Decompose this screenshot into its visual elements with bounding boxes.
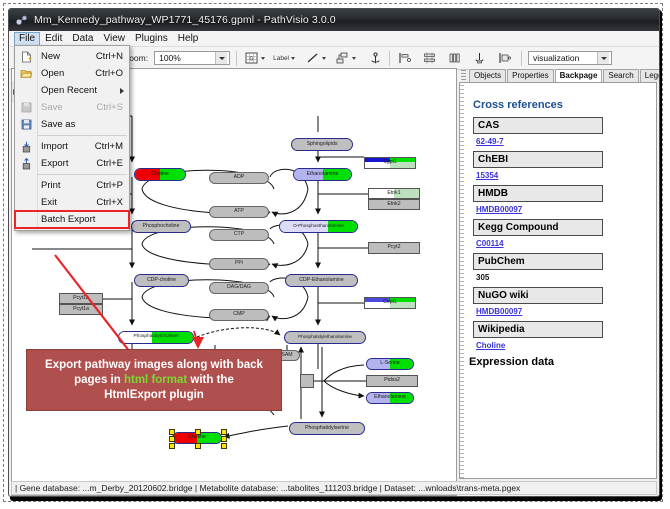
annotation-line2-a: pages in bbox=[74, 374, 124, 386]
selection-handle[interactable] bbox=[221, 436, 227, 442]
xref-value-wikipedia[interactable]: Choline bbox=[476, 341, 652, 350]
chevron-right-icon bbox=[120, 88, 124, 94]
new-document-icon bbox=[15, 48, 37, 65]
menu-item-new-label: New bbox=[37, 51, 96, 62]
selection-handle[interactable] bbox=[169, 436, 175, 442]
menu-item-export-label: Export bbox=[37, 158, 96, 169]
panel-drag-grip[interactable] bbox=[461, 70, 466, 80]
menu-item-open[interactable]: Open Ctrl+O bbox=[15, 65, 129, 82]
zoom-combo[interactable]: 100% bbox=[154, 51, 230, 65]
selection-handle[interactable] bbox=[195, 443, 201, 449]
pathway-node-adp[interactable]: ADP bbox=[209, 172, 269, 184]
menu-item-save-as-label: Save as bbox=[37, 119, 129, 130]
pathway-node-choline-selected-wrapper: Choline bbox=[172, 432, 222, 444]
xref-header-cas: CAS bbox=[473, 117, 603, 134]
pathway-node-dag[interactable]: DAG/DAG bbox=[209, 282, 269, 294]
shape-tool-button[interactable] bbox=[334, 50, 356, 66]
status-bar-text: | Gene database: ...m_Derby_20120602.bri… bbox=[15, 483, 520, 493]
xref-value-hmdb[interactable]: HMDB00097 bbox=[476, 205, 652, 214]
chevron-down-icon[interactable] bbox=[597, 52, 609, 64]
menu-item-open-recent[interactable]: Open Recent bbox=[15, 82, 129, 99]
menu-item-save[interactable]: Save Ctrl+S bbox=[15, 99, 129, 116]
pathway-gene-sgpl1[interactable]: Sgpl1 bbox=[364, 157, 416, 169]
menu-item-print-accel: Ctrl+P bbox=[96, 180, 129, 191]
xref-value-chebi[interactable]: 15354 bbox=[476, 171, 652, 180]
xref-header-pubchem: PubChem bbox=[473, 253, 603, 270]
pathway-gene-ptdss2[interactable]: Ptdss2 bbox=[366, 375, 418, 387]
xref-value-nugo-wiki[interactable]: HMDB00097 bbox=[476, 307, 652, 316]
menu-item-save-label: Save bbox=[37, 102, 96, 113]
pathway-gene-cept1[interactable]: Cept1 bbox=[364, 297, 416, 309]
xref-header-kegg-compound: Kegg Compound bbox=[473, 219, 603, 236]
tab-search[interactable]: Search bbox=[603, 69, 638, 82]
annotation-line2-b: with the bbox=[187, 374, 234, 386]
visualization-value: visualization bbox=[533, 53, 597, 63]
save-as-icon bbox=[15, 116, 37, 133]
backpage-content: Cross references CAS 62-49-7 ChEBI 15354… bbox=[464, 85, 652, 478]
xref-value-pubchem: 305 bbox=[476, 273, 652, 282]
group-button[interactable] bbox=[471, 50, 487, 66]
chevron-down-icon[interactable] bbox=[215, 52, 227, 64]
menu-item-batch-export-label: Batch Export bbox=[37, 214, 129, 225]
status-bar: | Gene database: ...m_Derby_20120602.bri… bbox=[11, 481, 657, 495]
menu-item-export-accel: Ctrl+E bbox=[96, 158, 129, 169]
pathway-node-sphingolipids[interactable]: Sphingolipids bbox=[291, 138, 353, 151]
menu-item-new[interactable]: New Ctrl+N bbox=[15, 48, 129, 65]
selection-handle[interactable] bbox=[221, 443, 227, 449]
menu-item-open-accel: Ctrl+O bbox=[95, 68, 129, 79]
tab-legend[interactable]: Legend bbox=[640, 69, 660, 82]
menu-item-export[interactable]: Export Ctrl+E bbox=[15, 155, 129, 172]
menu-help[interactable]: Help bbox=[173, 32, 204, 46]
selection-handle[interactable] bbox=[169, 443, 175, 449]
menu-item-exit-label: Exit bbox=[37, 197, 96, 208]
screenshot-frame: Mm_Kennedy_pathway_WP1771_45176.gpml - P… bbox=[0, 0, 670, 509]
menu-item-save-as[interactable]: Save as bbox=[15, 116, 129, 133]
distribute-button[interactable] bbox=[446, 50, 462, 66]
menu-plugins[interactable]: Plugins bbox=[130, 32, 173, 46]
window-title: Mm_Kennedy_pathway_WP1771_45176.gpml - P… bbox=[34, 14, 336, 26]
annotation-text: Export pathway images along with back pa… bbox=[45, 358, 263, 403]
label-tool-text: Label bbox=[273, 55, 289, 62]
menu-item-exit-accel: Ctrl+X bbox=[96, 197, 129, 208]
pathway-node-ethanolamine[interactable]: Ethanolamine bbox=[293, 168, 352, 181]
selection-handle[interactable] bbox=[221, 429, 227, 435]
grid-icon: G bbox=[243, 50, 259, 66]
annotation-highlight: html format bbox=[124, 374, 187, 386]
toolbar-separator bbox=[236, 51, 237, 66]
pathvisio-window: Mm_Kennedy_pathway_WP1771_45176.gpml - P… bbox=[8, 8, 660, 497]
pathway-node-l-serine[interactable]: L-Serine bbox=[366, 358, 414, 370]
pathway-gene-pcyt2[interactable]: Pcyt2 bbox=[368, 242, 420, 254]
order-button[interactable] bbox=[496, 50, 512, 66]
annotation-line1: Export pathway images along with back bbox=[45, 359, 263, 371]
xref-header-nugo-wiki: NuGO wiki bbox=[473, 287, 603, 304]
visualization-combo[interactable]: visualization bbox=[528, 51, 612, 65]
xref-header-chebi: ChEBI bbox=[473, 151, 603, 168]
xref-value-kegg-compound[interactable]: C00114 bbox=[476, 239, 652, 248]
save-disk-icon bbox=[15, 99, 37, 116]
export-icon bbox=[15, 155, 37, 172]
line-icon bbox=[304, 50, 320, 66]
pathway-node-choline[interactable]: Choline bbox=[134, 168, 186, 181]
anchor-tool-button[interactable] bbox=[367, 50, 383, 66]
menu-item-import-label: Import bbox=[37, 141, 95, 152]
pathway-node-ethanolamine-2[interactable]: Ethanolamine bbox=[366, 392, 414, 404]
label-tool-button[interactable]: Label bbox=[273, 55, 295, 62]
pathway-node-atp[interactable]: ATP bbox=[209, 206, 269, 218]
zoom-value: 100% bbox=[159, 53, 215, 63]
pathway-gene-pcyt1b[interactable]: Pcyt1b bbox=[59, 293, 103, 304]
side-panel-tabs: Objects Properties Backpage Search Legen… bbox=[459, 68, 657, 82]
tab-properties[interactable]: Properties bbox=[507, 69, 553, 82]
xref-value-cas[interactable]: 62-49-7 bbox=[476, 137, 652, 146]
menu-separator bbox=[37, 174, 127, 175]
menu-item-save-accel: Ctrl+S bbox=[96, 102, 129, 113]
file-menu-dropdown[interactable]: New Ctrl+N Open Ctrl+O Open Recent bbox=[14, 45, 130, 231]
menu-item-print[interactable]: Print Ctrl+P bbox=[15, 177, 129, 194]
tab-backpage[interactable]: Backpage bbox=[555, 69, 603, 83]
pathvisio-app-icon bbox=[15, 14, 28, 27]
open-folder-icon bbox=[15, 65, 37, 82]
menu-item-open-recent-label: Open Recent bbox=[37, 85, 129, 96]
shape-icon bbox=[334, 50, 350, 66]
side-panel: Objects Properties Backpage Search Legen… bbox=[459, 68, 657, 496]
grid-toggle-button[interactable]: G bbox=[243, 50, 265, 66]
menu-view[interactable]: View bbox=[98, 32, 130, 46]
line-tool-button[interactable] bbox=[304, 50, 326, 66]
backpage-panel: Cross references CAS 62-49-7 ChEBI 15354… bbox=[459, 82, 657, 479]
menu-item-print-label: Print bbox=[37, 180, 96, 191]
annotation-line3: HtmlExport plugin bbox=[104, 389, 204, 401]
selection-handle[interactable] bbox=[169, 429, 175, 435]
xref-header-hmdb: HMDB bbox=[473, 185, 603, 202]
pathway-node-cdp-ethanolamine[interactable]: CDP-Ethanolamine bbox=[285, 274, 358, 287]
pathway-node-ctp[interactable]: CTP bbox=[209, 229, 269, 241]
menu-item-new-accel: Ctrl+N bbox=[96, 51, 129, 62]
svg-text:G: G bbox=[249, 57, 253, 63]
pathway-gene-unlabeled[interactable] bbox=[300, 374, 314, 388]
menu-separator bbox=[37, 135, 127, 136]
annotation-callout: Export pathway images along with back pa… bbox=[26, 349, 282, 411]
import-icon bbox=[15, 138, 37, 155]
pathway-node-cdp-choline[interactable]: CDP-choline bbox=[134, 274, 189, 287]
menu-edit[interactable]: Edit bbox=[40, 32, 67, 46]
pathway-node-ppi[interactable]: PPi bbox=[209, 258, 269, 270]
expression-data-heading: Expression data bbox=[469, 356, 652, 368]
pathway-node-o-phosphoethanolamine[interactable]: O-Phosphoethanolamine bbox=[279, 220, 358, 233]
menu-item-batch-export[interactable]: Batch Export bbox=[15, 211, 129, 228]
menu-data[interactable]: Data bbox=[67, 32, 98, 46]
pathway-gene-etnk1[interactable]: Etnk1 bbox=[368, 188, 420, 199]
cross-references-heading: Cross references bbox=[473, 99, 652, 111]
menu-item-import[interactable]: Import Ctrl+M bbox=[15, 138, 129, 155]
tab-objects[interactable]: Objects bbox=[469, 69, 506, 82]
pathway-node-phosphatidylserine[interactable]: Phosphatidylserine bbox=[289, 422, 365, 435]
pathway-node-phosphocholine[interactable]: Phosphocholine bbox=[131, 220, 191, 233]
pathway-gene-pcyt1a[interactable]: Pcyt1a bbox=[59, 304, 103, 315]
title-bar: Mm_Kennedy_pathway_WP1771_45176.gpml - P… bbox=[9, 9, 659, 31]
menu-file[interactable]: File bbox=[14, 32, 40, 46]
menu-item-exit[interactable]: Exit Ctrl+X bbox=[15, 194, 129, 211]
pathway-node-phosphatidylethanolamine[interactable]: Phosphatidylethanolamine bbox=[284, 331, 366, 344]
align-stack-button[interactable] bbox=[421, 50, 437, 66]
pathway-node-cmp[interactable]: CMP bbox=[209, 309, 269, 321]
pathway-gene-etnk2[interactable]: Etnk2 bbox=[368, 199, 420, 210]
xref-header-wikipedia: Wikipedia bbox=[473, 321, 603, 338]
menu-item-open-label: Open bbox=[37, 68, 95, 79]
menu-item-import-accel: Ctrl+M bbox=[95, 141, 129, 152]
pathway-node-phosphatidylcholines[interactable]: Phosphatidylcholines bbox=[118, 331, 194, 344]
align-left-button[interactable] bbox=[396, 50, 412, 66]
